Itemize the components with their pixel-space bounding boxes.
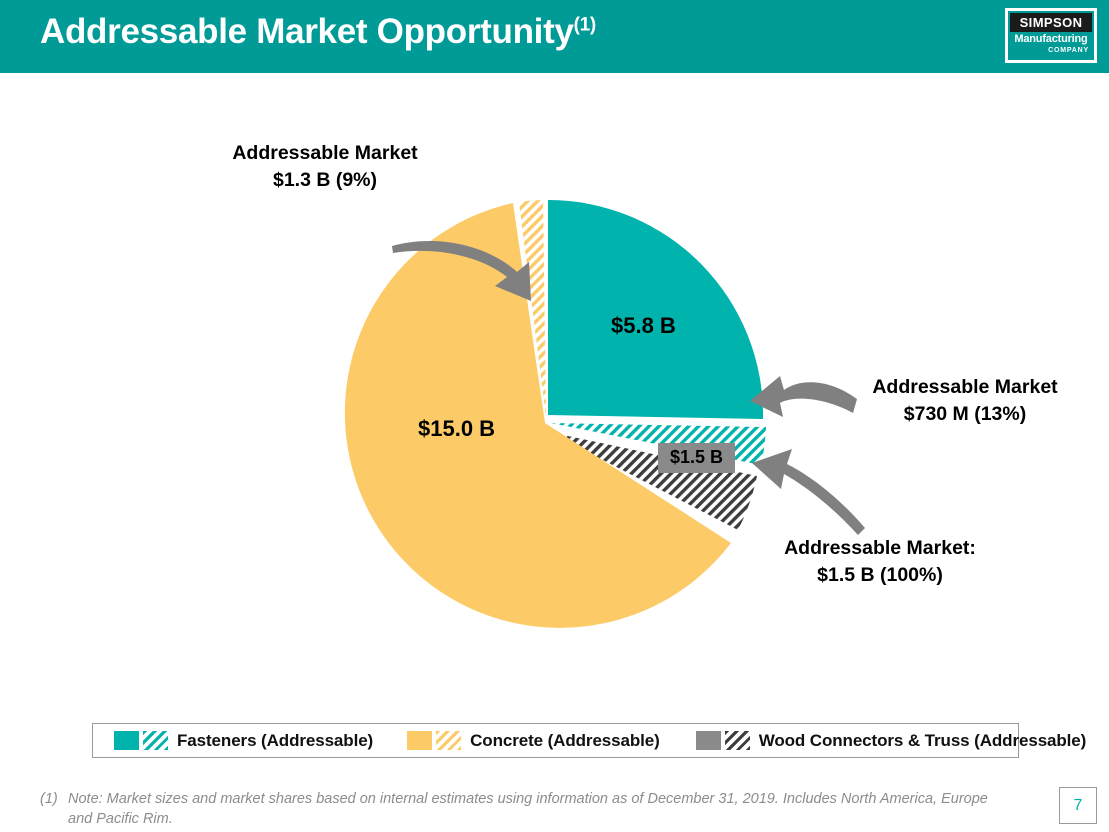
annotation-concrete-line1: Addressable Market <box>200 140 450 167</box>
pie-slice-fasteners-total <box>548 200 763 419</box>
header-bar: Addressable Market Opportunity(1) SIMPSO… <box>0 0 1109 73</box>
legend-swatch-solid-fasteners <box>114 731 139 750</box>
page-title: Addressable Market Opportunity(1) <box>40 12 596 52</box>
footnote-text: Note: Market sizes and market shares bas… <box>68 789 1010 829</box>
annotation-concrete-line2: $1.3 B (9%) <box>200 167 450 194</box>
legend-item-concrete: Concrete (Addressable) <box>407 731 660 751</box>
legend-swatch-hatched-wood <box>725 731 750 750</box>
legend-item-fasteners: Fasteners (Addressable) <box>114 731 373 751</box>
page-number: 7 <box>1059 787 1097 824</box>
legend-label-wood: Wood Connectors & Truss (Addressable) <box>759 731 1087 751</box>
annotation-fasteners-line2: $730 M (13%) <box>845 401 1085 428</box>
legend-swatch-fasteners <box>114 731 168 750</box>
callout-arrow-wood <box>752 449 865 535</box>
legend-swatch-hatched-concrete <box>436 731 461 750</box>
legend-swatch-concrete <box>407 731 461 750</box>
annotation-wood-line1: Addressable Market: <box>760 535 1000 562</box>
logo-manufacturing-text: Manufacturing <box>1008 33 1094 46</box>
legend-label-concrete: Concrete (Addressable) <box>470 731 660 751</box>
chart-legend: Fasteners (Addressable) Concrete (Addres… <box>92 723 1019 758</box>
company-logo: SIMPSON Manufacturing COMPANY <box>1005 8 1097 63</box>
slice-value-concrete: $15.0 B <box>418 416 495 442</box>
annotation-wood-line2: $1.5 B (100%) <box>760 562 1000 589</box>
logo-company-text: COMPANY <box>1008 46 1094 56</box>
footnote-marker: (1) <box>40 789 58 809</box>
legend-swatch-solid-wood <box>696 731 721 750</box>
footnote: (1) Note: Market sizes and market shares… <box>40 789 1010 829</box>
annotation-wood: Addressable Market: $1.5 B (100%) <box>760 535 1000 589</box>
slice-value-fasteners: $5.8 B <box>611 313 676 339</box>
page-title-text: Addressable Market Opportunity <box>40 12 574 51</box>
annotation-fasteners: Addressable Market $730 M (13%) <box>845 374 1085 428</box>
legend-swatch-wood <box>696 731 750 750</box>
annotation-fasteners-line1: Addressable Market <box>845 374 1085 401</box>
legend-item-wood: Wood Connectors & Truss (Addressable) <box>696 731 1087 751</box>
legend-label-fasteners: Fasteners (Addressable) <box>177 731 373 751</box>
annotation-concrete: Addressable Market $1.3 B (9%) <box>200 140 450 194</box>
legend-swatch-hatched-fasteners <box>143 731 168 750</box>
slice-value-wood: $1.5 B <box>658 443 735 473</box>
page-title-footnote-marker: (1) <box>574 14 596 35</box>
slide: Addressable Market Opportunity(1) SIMPSO… <box>0 0 1109 832</box>
callout-arrow-fasteners <box>750 376 857 417</box>
logo-brand-text: SIMPSON <box>1010 13 1092 32</box>
legend-swatch-solid-concrete <box>407 731 432 750</box>
